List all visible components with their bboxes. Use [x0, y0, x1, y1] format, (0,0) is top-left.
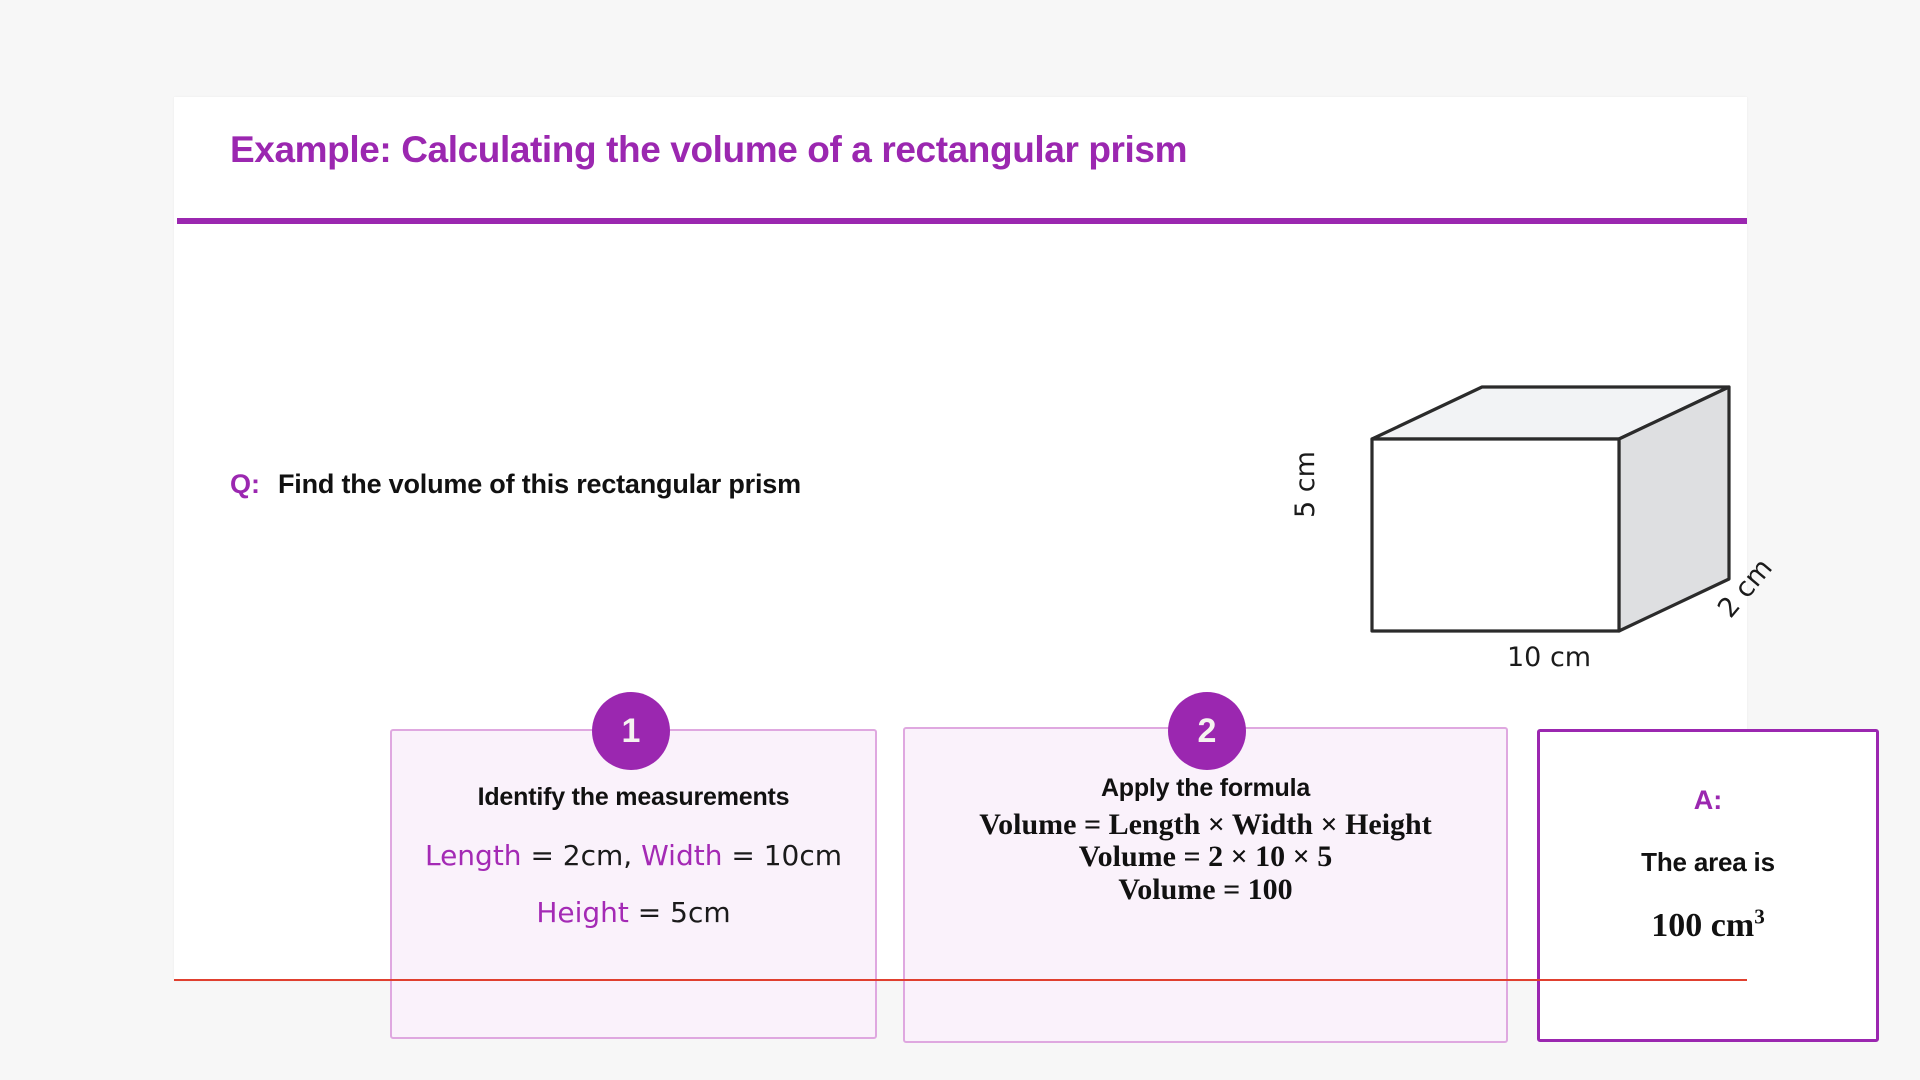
prism-length-label: 10 cm — [1507, 642, 1591, 673]
formula-line-1: Volume = Length × Width × Height — [780, 809, 1631, 841]
prism-front-face — [1372, 439, 1619, 631]
header-divider — [177, 218, 1747, 224]
answer-card[interactable]: A: The area is 100 cm3 — [1537, 729, 1879, 1042]
answer-label: A: — [1694, 785, 1723, 815]
step-badge-1[interactable]: 1 — [592, 692, 670, 770]
question-text: Find the volume of this rectangular pris… — [278, 469, 801, 500]
worksheet-card: Example: Calculating the volume of a rec… — [174, 97, 1747, 981]
page-root: Example: Calculating the volume of a rec… — [0, 0, 1920, 1080]
height-value: = 5cm — [629, 896, 731, 929]
formula-line-2: Volume = 2 × 10 × 5 — [780, 841, 1631, 873]
step-1-line-2: Height = 5cm — [536, 896, 730, 929]
width-term: Width — [641, 839, 722, 872]
answer-value-exponent: 3 — [1754, 905, 1765, 929]
question-row: Q: Find the volume of this rectangular p… — [230, 469, 801, 500]
worksheet-bottom-rule — [174, 979, 1747, 981]
answer-value-number: 100 cm — [1651, 907, 1754, 944]
prism-figure: 5 cm 10 cm 2 cm — [1304, 357, 1804, 687]
step-badge-2[interactable]: 2 — [1168, 692, 1246, 770]
prism-height-label: 5 cm — [1290, 451, 1321, 518]
formula-line-3: Volume = 100 — [780, 874, 1631, 906]
answer-text: The area is — [1641, 847, 1775, 877]
length-value: = 2cm, — [522, 839, 642, 872]
prism-svg — [1304, 357, 1804, 687]
page-title: Example: Calculating the volume of a rec… — [230, 129, 1187, 171]
height-term: Height — [536, 896, 629, 929]
step-card-2[interactable]: Apply the formula Volume = Length × Widt… — [903, 727, 1508, 1043]
answer-value: 100 cm3 — [1651, 907, 1764, 944]
question-label: Q: — [230, 469, 260, 500]
step-2-content: Apply the formula Volume = Length × Widt… — [780, 774, 1631, 906]
length-term: Length — [425, 839, 522, 872]
step-2-heading: Apply the formula — [780, 774, 1631, 803]
